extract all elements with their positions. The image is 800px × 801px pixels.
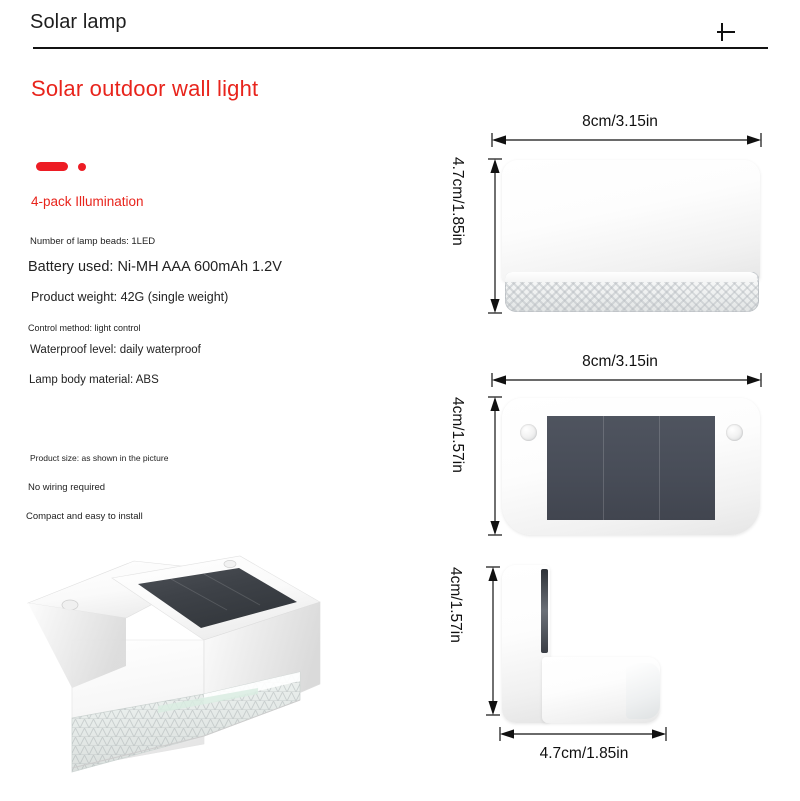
plus-icon-horizontal-stroke — [717, 31, 735, 33]
side-view-height-label: 4cm/1.57in — [446, 567, 464, 643]
mounting-hole-right — [726, 424, 743, 441]
diagram-front-view: 8cm/3.15in 4.7cm/1.85in — [440, 105, 790, 320]
spec-line: Product weight: 42G (single weight) — [31, 290, 228, 304]
spec-line: Number of lamp beads: 1LED — [30, 236, 155, 247]
spec-line: Product size: as shown in the picture — [30, 453, 168, 463]
page-title: Solar lamp — [30, 11, 127, 34]
top-view-lamp-body — [502, 398, 760, 535]
spec-line: Compact and easy to install — [26, 511, 143, 522]
side-view-width-label: 4.7cm/1.85in — [485, 745, 683, 763]
top-view-width-arrow — [490, 373, 765, 387]
solar-lamp-product-photo — [8, 548, 338, 796]
front-view-width-label: 8cm/3.15in — [485, 113, 755, 131]
red-bar-marker — [36, 162, 68, 171]
plus-icon-vertical-stroke — [721, 23, 723, 41]
spec-line: Waterproof level: daily waterproof — [30, 344, 201, 356]
top-view-height-label: 4cm/1.57in — [448, 397, 466, 473]
front-view-width-arrow — [490, 133, 765, 147]
side-view-panel-edge — [541, 569, 548, 653]
header-divider — [33, 47, 768, 49]
product-photo-illustration — [8, 548, 338, 796]
plus-icon[interactable] — [713, 19, 739, 45]
front-view-height-label: 4.7cm/1.85in — [448, 157, 466, 246]
front-view-shell — [502, 160, 760, 282]
accent-marker-group — [36, 161, 96, 173]
spec-line: No wiring required — [28, 482, 105, 493]
spec-line: Battery used: Ni-MH AAA 600mAh 1.2V — [28, 259, 282, 275]
side-view-lens-edge — [626, 663, 660, 719]
front-view-height-arrow — [488, 157, 502, 315]
spec-line: Lamp body material: ABS — [29, 374, 159, 386]
product-headline: Solar outdoor wall light — [31, 76, 258, 102]
side-view-width-arrow — [498, 727, 670, 741]
mounting-hole-left — [520, 424, 537, 441]
side-view-lamp-body — [502, 565, 662, 725]
red-dot-marker — [78, 163, 86, 171]
photo-top-screw-hole — [224, 560, 236, 567]
diagram-top-view: 8cm/3.15in 4cm/1.57in — [440, 345, 790, 540]
spec-line: Control method: light control — [28, 323, 141, 333]
solar-cell-divider — [659, 416, 660, 520]
top-view-height-arrow — [488, 395, 502, 537]
diagram-side-view: 4cm/1.57in 4.7cm/1.85in — [440, 555, 790, 770]
photo-flange-screw-hole — [62, 600, 78, 610]
top-view-width-label: 8cm/3.15in — [485, 353, 755, 371]
front-view-lamp-body — [502, 160, 760, 312]
top-view-solar-panel — [547, 416, 715, 520]
header-bar: Solar lamp — [0, 0, 800, 50]
pack-label: 4-pack Illumination — [31, 194, 144, 209]
front-view-lens-lip — [505, 272, 757, 282]
solar-cell-divider — [603, 416, 604, 520]
side-view-height-arrow — [486, 565, 500, 717]
